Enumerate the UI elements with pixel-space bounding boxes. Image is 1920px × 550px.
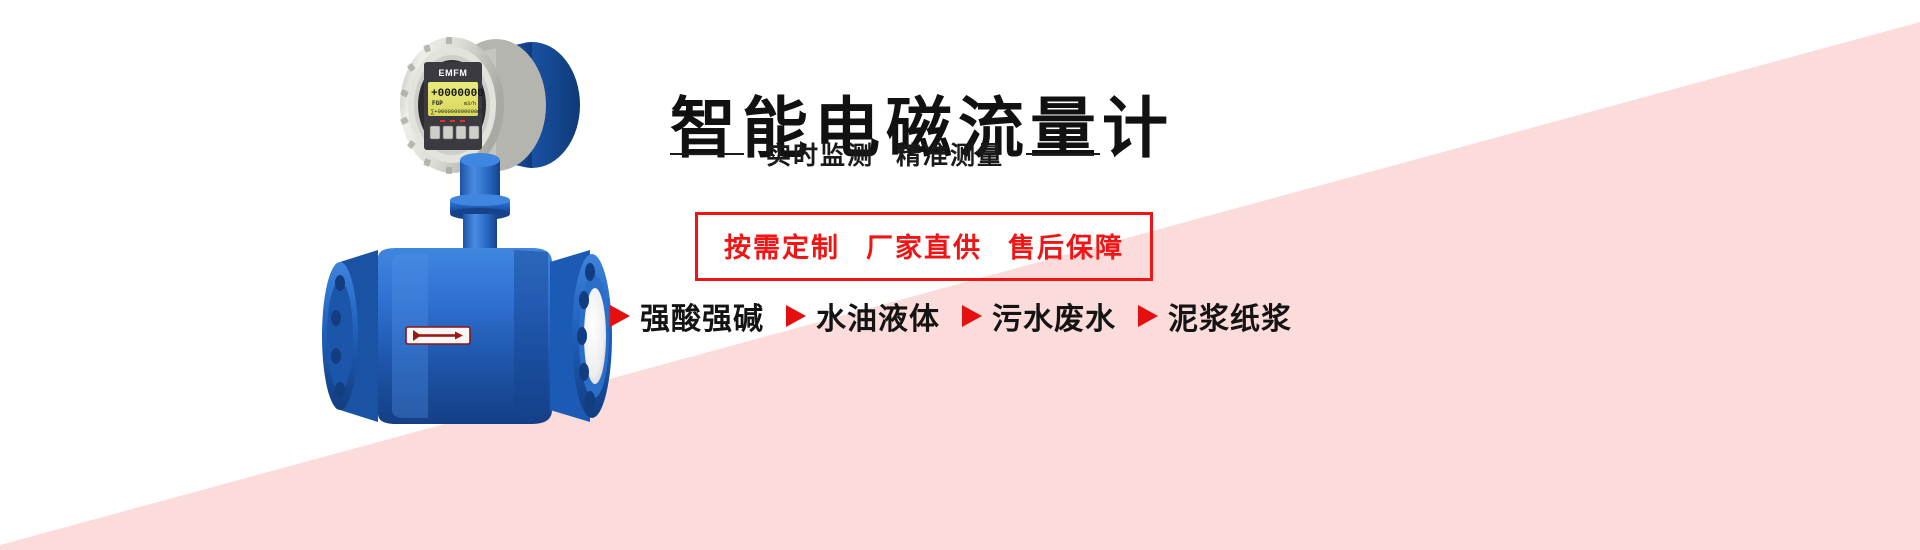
right-flange <box>550 250 612 422</box>
meter-body <box>378 248 552 424</box>
feature-list: 强酸强碱 水油液体 污水废水 泥浆纸浆 <box>610 294 1292 338</box>
feature-label: 水油液体 <box>816 294 940 338</box>
triangle-right-icon <box>786 305 806 327</box>
lcd-line-1: +0000000 <box>431 88 484 100</box>
selling-points-text: 按需定制厂家直供售后保障 <box>724 233 1124 263</box>
left-flange <box>322 250 378 422</box>
triangle-right-icon <box>610 305 630 327</box>
led-indicators <box>440 120 465 122</box>
display-brand: EMFM <box>439 68 468 78</box>
list-item: 污水废水 <box>962 294 1116 338</box>
list-item: 泥浆纸浆 <box>1138 294 1292 338</box>
lcd-line-2-right: m3/h <box>464 101 476 107</box>
lcd-line-2-left: FGP <box>432 100 443 107</box>
feature-label: 泥浆纸浆 <box>1168 294 1292 338</box>
feature-label: 强酸强碱 <box>640 294 764 338</box>
subtitle-text-b: 精准测量 <box>896 142 1004 170</box>
badge-item-b: 厂家直供 <box>866 233 982 263</box>
badge-item-a: 按需定制 <box>724 233 840 263</box>
lcd-line-3: ∑+000000000000m³ <box>431 108 484 115</box>
text-content-column: 智能电磁流量计 实时监测精准测量 按需定制厂家直供售后保障 强酸强碱 水油液体 … <box>610 0 1860 550</box>
subtitle-row: 实时监测精准测量 <box>670 136 1410 172</box>
subtitle-text: 实时监测精准测量 <box>766 136 1004 172</box>
triangle-right-icon <box>1138 305 1158 327</box>
list-item: 水油液体 <box>786 294 940 338</box>
product-banner: EMFM +0000000 FGP m3/h ∑+000000000000m³ <box>0 0 1920 550</box>
subtitle-left-rule <box>670 153 744 155</box>
list-item: 强酸强碱 <box>610 294 764 338</box>
subtitle-right-rule <box>1026 153 1100 155</box>
flow-direction-label <box>406 327 470 344</box>
transmitter-head: EMFM +0000000 FGP m3/h ∑+000000000000m³ <box>400 37 580 174</box>
selling-points-badge: 按需定制厂家直供售后保障 <box>695 212 1153 281</box>
feature-label: 污水废水 <box>992 294 1116 338</box>
subtitle-text-a: 实时监测 <box>766 142 874 170</box>
badge-item-c: 售后保障 <box>1008 233 1124 263</box>
triangle-right-icon <box>962 305 982 327</box>
